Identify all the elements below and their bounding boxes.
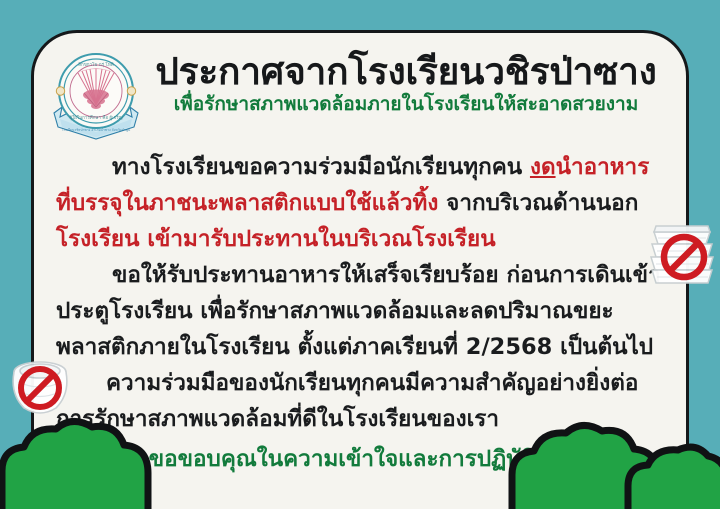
p1-line1-black: ทางโรงเรียนขอความร่วมมือนักเรียนทุกคน bbox=[112, 154, 530, 180]
p2-line1: ขอให้รับประทานอาหารให้เสร็จเรียบร้อย ก่อ… bbox=[112, 262, 661, 288]
poster-canvas: สิกขกาโม กรุ่ โหติ ผู้ใฝ่ในการศึกษา คือ … bbox=[0, 0, 720, 509]
page-title: ประกาศจากโรงเรียนวชิรป่าซาง bbox=[144, 51, 668, 92]
page-subtitle: เพื่อรักษาสภาพแวดล้อมภายในโรงเรียนให้สะอ… bbox=[144, 93, 668, 117]
paragraph-1: ทางโรงเรียนขอความร่วมมือนักเรียนทุกคน งด… bbox=[56, 149, 670, 257]
svg-text:สิกขกาโม กรุ่ โหติ: สิกขกาโม กรุ่ โหติ bbox=[78, 61, 114, 68]
p1-line1-red-underline: งด bbox=[530, 154, 556, 180]
p1-line1-red: นำอาหาร bbox=[556, 154, 650, 180]
svg-text:โรงเรียนวชิรป่าซาง อำเภอป่าซาง: โรงเรียนวชิรป่าซาง อำเภอป่าซาง จังหวัดลำ… bbox=[62, 127, 131, 132]
paragraph-2: ขอให้รับประทานอาหารให้เสร็จเรียบร้อย ก่อ… bbox=[56, 257, 670, 365]
p1-line2-black: จากบริเวณด้านนอก bbox=[438, 190, 638, 216]
poster-header: สิกขกาโม กรุ่ โหติ ผู้ใฝ่ในการศึกษา คือ … bbox=[34, 43, 686, 139]
p1-line3-red: โรงเรียน เข้ามารับประทานในบริเวณโรงเรียน bbox=[56, 226, 496, 252]
bush-right-2 bbox=[620, 440, 720, 509]
p2-line3: พลาสติกภายในโรงเรียน ตั้งแต่ภาคเรียนที่ … bbox=[56, 334, 653, 360]
svg-text:ผู้ใฝ่ในการศึกษา คือ ผู้เจริญ: ผู้ใฝ่ในการศึกษา คือ ผู้เจริญ bbox=[69, 114, 122, 121]
p2-line2: ประตูโรงเรียน เพื่อรักษาสภาพแวดล้อมและลด… bbox=[56, 298, 614, 324]
p1-line2-red: ที่บรรจุในภาชนะพลาสติกแบบใช้แล้วทิ้ง bbox=[56, 190, 438, 216]
no-plastic-bag-icon bbox=[4, 348, 76, 426]
school-seal-logo: สิกขกาโม กรุ่ โหติ ผู้ใฝ่ในการศึกษา คือ … bbox=[48, 47, 144, 145]
header-titles: ประกาศจากโรงเรียนวชิรป่าซาง เพื่อรักษาสภ… bbox=[144, 51, 668, 117]
bush-left bbox=[0, 413, 182, 509]
p3-line1: ความร่วมมือของนักเรียนทุกคนมีความสำคัญอย… bbox=[106, 370, 638, 396]
no-plastic-container-icon bbox=[644, 216, 720, 302]
